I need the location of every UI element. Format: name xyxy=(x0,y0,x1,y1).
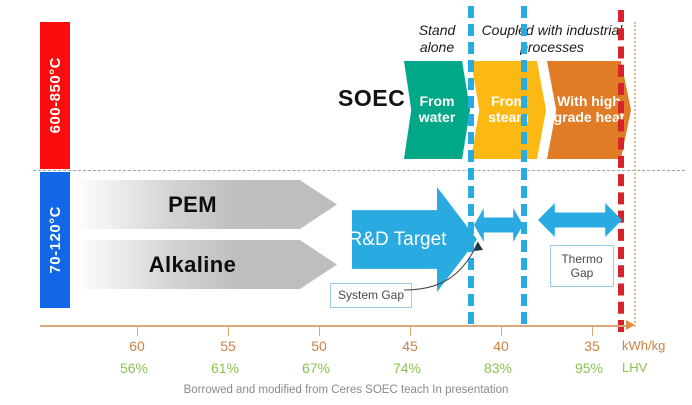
callout-thermo-gap-label: Thermo Gap xyxy=(551,252,613,281)
diagram-canvas: 600-850°C 70-120°C SOEC Stand alone Coup… xyxy=(0,0,692,405)
caption-stand-alone: Stand alone xyxy=(404,22,470,55)
soec-stage-from-steam: From steam xyxy=(471,61,546,159)
callout-system-gap-label: System Gap xyxy=(338,288,404,302)
soec-stage-from-water-label: From water xyxy=(404,94,470,125)
axis-tick xyxy=(592,326,593,336)
marker-line-red-thermodynamic-limit xyxy=(618,10,624,332)
temperature-band-low: 70-120°C xyxy=(40,172,70,308)
horizontal-divider-line xyxy=(33,170,685,171)
axis-tick-value: 45 xyxy=(390,338,430,354)
axis-tick-percent: 83% xyxy=(478,360,518,376)
axis-tick xyxy=(501,326,502,336)
callout-thermo-gap: Thermo Gap xyxy=(550,245,614,287)
energy-axis-arrowhead xyxy=(626,320,635,330)
axis-tick xyxy=(228,326,229,336)
axis-tick-value: 60 xyxy=(117,338,157,354)
marker-line-dotted xyxy=(634,22,636,327)
temperature-band-low-label: 70-120°C xyxy=(47,206,64,274)
soec-stage-from-water: From water xyxy=(404,61,470,159)
system-gap-leader-line xyxy=(404,228,494,298)
marker-line-cyan-right xyxy=(521,6,527,324)
axis-tick-percent: 74% xyxy=(387,360,427,376)
axis-tick-value: 40 xyxy=(481,338,521,354)
axis-tick xyxy=(137,326,138,336)
axis-tick xyxy=(319,326,320,336)
axis-tick-value: 55 xyxy=(208,338,248,354)
energy-axis-line xyxy=(40,325,628,327)
soec-stage-from-steam-label: From steam xyxy=(471,94,546,125)
technology-arrow-alkaline-label: Alkaline xyxy=(149,252,237,278)
axis-tick-value: 50 xyxy=(299,338,339,354)
thermo-gap-arrow xyxy=(538,203,622,237)
soec-title: SOEC xyxy=(338,85,405,112)
temperature-band-high-label: 600-850°C xyxy=(47,57,64,133)
axis-basis-label: LHV xyxy=(622,360,692,375)
figure-caption: Borrowed and modified from Ceres SOEC te… xyxy=(0,384,692,396)
temperature-band-high: 600-850°C xyxy=(40,22,70,169)
caption-coupled-industrial: Coupled with industrial processes xyxy=(474,22,630,55)
axis-unit-label: kWh/kg xyxy=(622,338,692,353)
technology-arrow-alkaline: Alkaline xyxy=(72,240,337,289)
axis-tick-percent: 95% xyxy=(569,360,609,376)
axis-tick-percent: 67% xyxy=(296,360,336,376)
technology-arrow-pem-label: PEM xyxy=(168,192,217,218)
callout-system-gap: System Gap xyxy=(330,283,412,308)
axis-tick-percent: 61% xyxy=(205,360,245,376)
technology-arrow-pem: PEM xyxy=(72,180,337,229)
axis-tick-percent: 56% xyxy=(114,360,154,376)
axis-tick xyxy=(410,326,411,336)
axis-tick-value: 35 xyxy=(572,338,612,354)
